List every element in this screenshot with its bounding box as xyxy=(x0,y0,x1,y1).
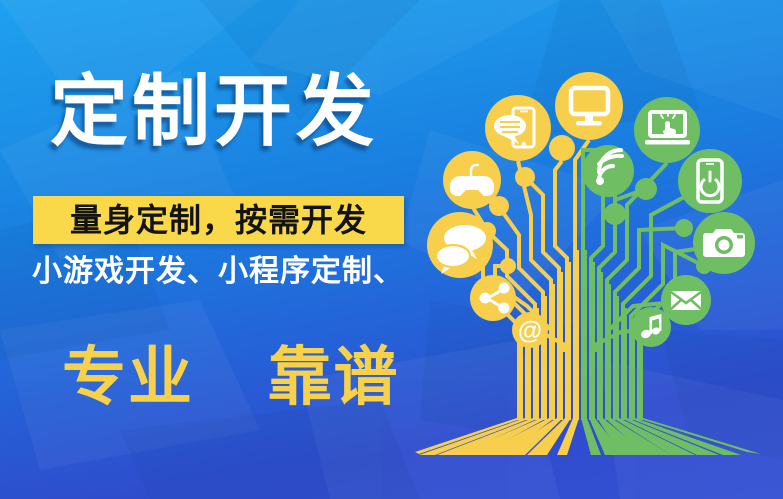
roots-green xyxy=(581,418,761,455)
branch-node xyxy=(549,135,575,161)
chat-bubbles-icon xyxy=(427,212,493,278)
at-sign-icon: @ xyxy=(512,312,548,348)
technology-tree-illustration: @ xyxy=(415,0,783,499)
music-note-icon xyxy=(631,307,671,347)
sub-banner-text: 量身定制，按需开发 xyxy=(70,204,367,236)
promo-banner: 定制开发 量身定制，按需开发 小游戏开发、小程序定制、 专业 靠谱 xyxy=(0,0,783,499)
laptop-touch-icon xyxy=(634,97,700,163)
monitor-icon xyxy=(555,72,623,140)
branch-node xyxy=(500,258,516,274)
technology-tree-svg: @ xyxy=(415,0,783,499)
svg-text:@: @ xyxy=(518,317,542,345)
mobile-chat-icon xyxy=(485,95,551,161)
branch-node xyxy=(635,178,657,200)
text-column: 定制开发 量身定制，按需开发 小游戏开发、小程序定制、 专业 靠谱 xyxy=(0,0,430,499)
slogan-word-left: 专业 xyxy=(62,341,194,413)
wifi-icon xyxy=(582,145,634,197)
roots-yellow xyxy=(415,418,579,455)
phone-power-icon xyxy=(678,149,742,213)
page-title: 定制开发 xyxy=(50,72,378,150)
branch-node xyxy=(515,167,535,187)
branch-node xyxy=(675,219,693,237)
share-icon xyxy=(470,275,516,321)
slogan-word-right: 靠谱 xyxy=(268,341,400,413)
slogan: 专业 靠谱 xyxy=(62,345,400,409)
sub-banner-highlight: 量身定制，按需开发 xyxy=(33,196,404,244)
branch-node xyxy=(604,203,626,225)
service-list-text: 小游戏开发、小程序定制、 xyxy=(32,257,404,287)
gamepad-icon xyxy=(443,151,501,209)
camera-icon xyxy=(693,212,755,274)
